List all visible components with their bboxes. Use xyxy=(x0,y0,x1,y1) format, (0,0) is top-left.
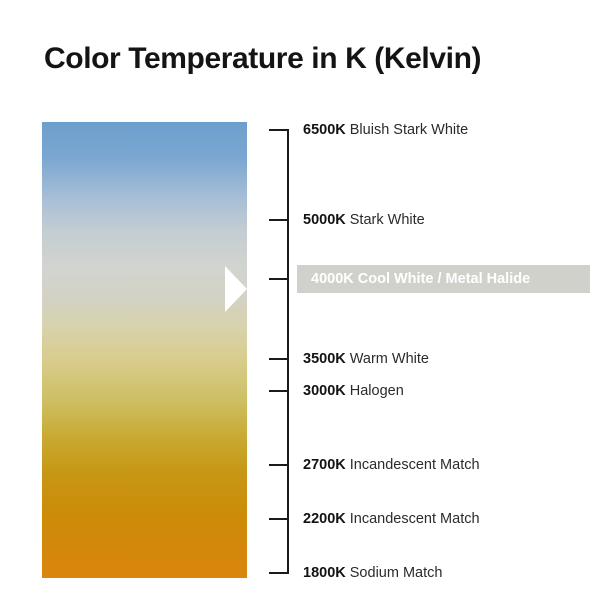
page-title: Color Temperature in K (Kelvin) xyxy=(44,42,481,76)
scale-tick-1800k xyxy=(269,572,289,574)
scale-label-2700k[interactable]: 2700K Incandescent Match xyxy=(303,457,480,473)
scale-label-6500k[interactable]: 6500K Bluish Stark White xyxy=(303,122,468,138)
kelvin-value: 5000K xyxy=(303,212,346,228)
kelvin-description: Incandescent Match xyxy=(346,511,480,527)
color-temperature-gradient-bar xyxy=(42,122,247,578)
scale-tick-3000k xyxy=(269,390,289,392)
scale-tick-2700k xyxy=(269,464,289,466)
scale-label-3000k[interactable]: 3000K Halogen xyxy=(303,383,404,399)
kelvin-description: Sodium Match xyxy=(346,565,443,581)
kelvin-value: 2200K xyxy=(303,511,346,527)
kelvin-value: 3500K xyxy=(303,351,346,367)
kelvin-value: 3000K xyxy=(303,383,346,399)
scale-label-2200k[interactable]: 2200K Incandescent Match xyxy=(303,511,480,527)
highlight-row-label: 4000K Cool White / Metal Halide xyxy=(311,271,530,287)
scale-label-1800k[interactable]: 1800K Sodium Match xyxy=(303,565,442,581)
scale-tick-2200k xyxy=(269,518,289,520)
scale-label-5000k[interactable]: 5000K Stark White xyxy=(303,212,425,228)
kelvin-value: 6500K xyxy=(303,122,346,138)
scale-tick-6500k xyxy=(269,129,289,131)
scale-label-3500k[interactable]: 3500K Warm White xyxy=(303,351,429,367)
kelvin-description: Incandescent Match xyxy=(346,457,480,473)
gradient-fill xyxy=(42,122,247,578)
kelvin-description: Halogen xyxy=(346,383,404,399)
color-temperature-infographic: Color Temperature in K (Kelvin) 4000K Co… xyxy=(0,0,600,600)
scale-tick-5000k xyxy=(269,219,289,221)
scale-tick-4000k xyxy=(269,278,289,280)
kelvin-description: Bluish Stark White xyxy=(346,122,469,138)
kelvin-description: Stark White xyxy=(346,212,425,228)
scale-tick-3500k xyxy=(269,358,289,360)
kelvin-value: 1800K xyxy=(303,565,346,581)
scale-axis-line xyxy=(287,130,289,574)
kelvin-value: 2700K xyxy=(303,457,346,473)
kelvin-description: Warm White xyxy=(346,351,429,367)
